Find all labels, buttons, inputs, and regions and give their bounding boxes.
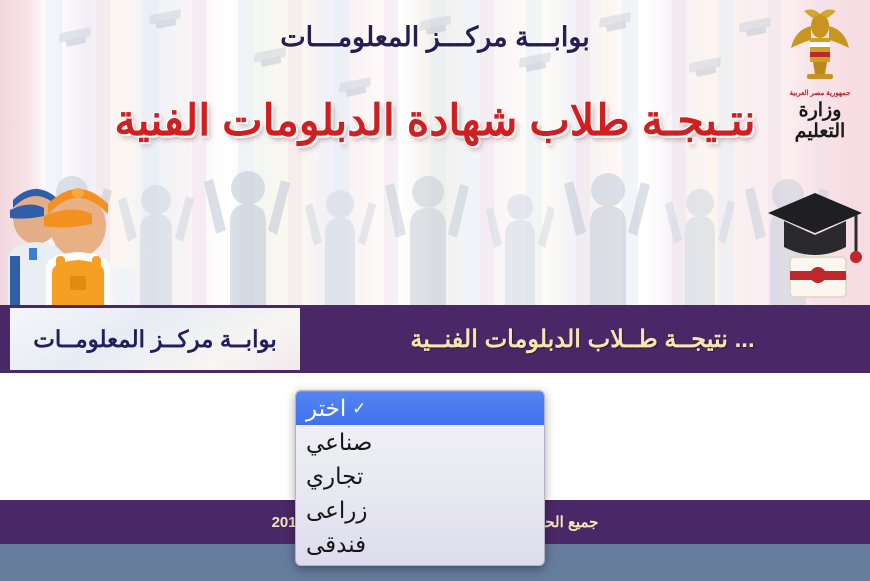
emblem-country-label: جمهورية مصر العربية — [782, 89, 858, 97]
dropdown-option-label: تجاري — [306, 463, 363, 490]
eagle-icon — [787, 4, 853, 82]
egypt-eagle-emblem-icon: جمهورية مصر العربية وزارة التعليم — [782, 4, 858, 169]
check-icon: ✓ — [350, 399, 368, 419]
dropdown-option-label: زراعى — [306, 497, 368, 524]
dropdown-option[interactable]: صناعي — [296, 425, 544, 459]
banner-title: نتـيجـة طلاب شهادة الدبلومات الفنية — [0, 96, 870, 146]
emblem-ministry-label: وزارة التعليم — [782, 101, 858, 143]
dropdown-option[interactable]: زراعى — [296, 493, 544, 527]
qualification-type-dropdown-menu[interactable]: اختر ✓ صناعي تجاري زراعى فندقى — [295, 390, 545, 566]
banner-subtitle: بوابـــة مركـــز المعلومـــات — [0, 22, 870, 53]
site-logo-label: بوابــة مركــز المعلومــات — [33, 326, 277, 353]
dropdown-option[interactable]: فندقى — [296, 527, 544, 561]
banner: بوابـــة مركـــز المعلومـــات نتـيجـة طل… — [0, 0, 870, 305]
dropdown-option-label: اختر — [306, 395, 346, 422]
site-logo-box[interactable]: بوابــة مركــز المعلومــات — [10, 308, 300, 370]
dropdown-option[interactable]: تجاري — [296, 459, 544, 493]
page-title: ... نتيجــة طــلاب الدبلومات الفنــية — [310, 305, 855, 373]
dropdown-option[interactable]: اختر ✓ — [296, 391, 544, 425]
dropdown-option-label: فندقى — [306, 531, 366, 558]
page-root: بوابـــة مركـــز المعلومـــات نتـيجـة طل… — [0, 0, 870, 581]
graduation-cap-diploma-icon — [760, 175, 870, 305]
dropdown-option-label: صناعي — [306, 429, 372, 456]
student-mascots-icon — [0, 160, 150, 305]
